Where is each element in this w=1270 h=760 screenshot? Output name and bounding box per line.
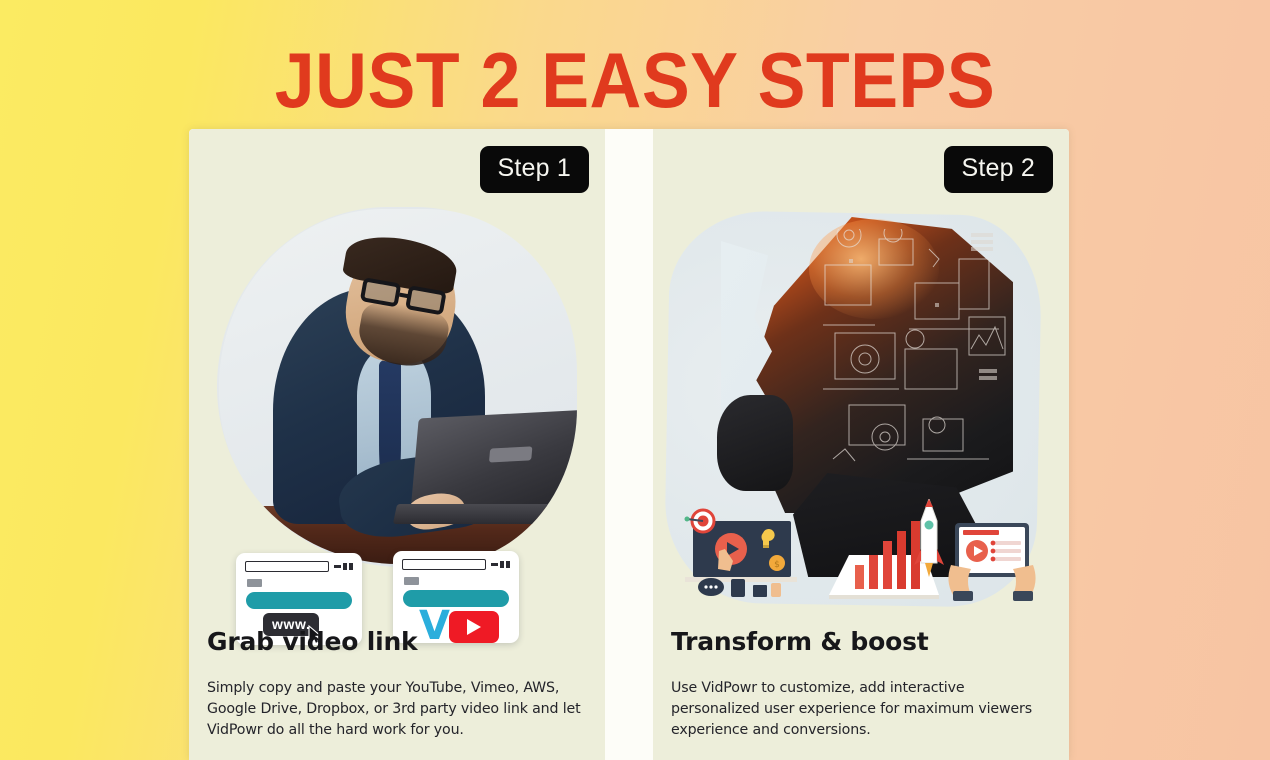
step-1-badge: Step 1 bbox=[480, 146, 589, 193]
businessman-laptop-photo bbox=[219, 209, 577, 564]
growth-chart-illustration bbox=[829, 499, 944, 599]
step-1-heading: Grab video link bbox=[207, 627, 591, 657]
content-bar bbox=[246, 592, 352, 609]
step-2-body: Use VidPowr to customize, add interactiv… bbox=[671, 678, 1055, 741]
tablet-video-illustration bbox=[948, 523, 1035, 601]
marketing-illustrations: $ bbox=[663, 499, 1063, 609]
analytics-screen-illustration: $ bbox=[685, 510, 798, 597]
steps-card-strip: Step 1 bbox=[189, 129, 1069, 760]
svg-text:$: $ bbox=[774, 560, 780, 570]
address-bar[interactable] bbox=[245, 561, 329, 572]
step-card-1[interactable]: Step 1 bbox=[189, 129, 605, 760]
step-card-2[interactable]: Step 2 bbox=[653, 129, 1069, 760]
page-title: JUST 2 EASY STEPS bbox=[51, 38, 1219, 122]
step-1-text: Grab video link Simply copy and paste yo… bbox=[207, 627, 591, 741]
step-1-body: Simply copy and paste your YouTube, Vime… bbox=[207, 678, 591, 741]
window-controls-icon bbox=[491, 561, 510, 568]
tab-icon bbox=[404, 577, 419, 585]
tab-icon bbox=[247, 579, 262, 587]
step-2-media: $ bbox=[653, 207, 1069, 657]
address-bar[interactable] bbox=[402, 559, 486, 570]
promo-page: JUST 2 EASY STEPS Step 1 bbox=[0, 0, 1270, 760]
step-1-media: www. V bbox=[189, 207, 605, 657]
tech-overlay-icon bbox=[819, 229, 1014, 499]
step-2-text: Transform & boost Use VidPowr to customi… bbox=[671, 627, 1055, 741]
step-2-badge: Step 2 bbox=[944, 146, 1053, 193]
window-controls-icon bbox=[334, 563, 353, 570]
step-2-heading: Transform & boost bbox=[671, 627, 1055, 657]
